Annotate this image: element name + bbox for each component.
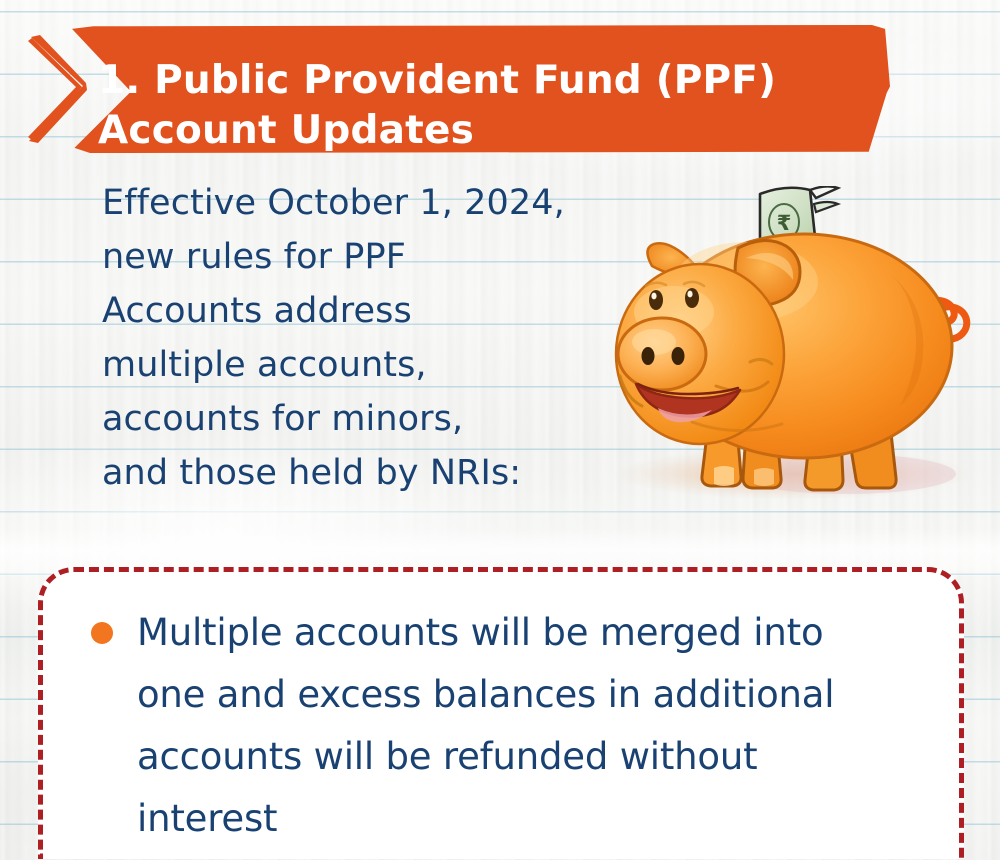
header-ribbon: 1. Public Provident Fund (PPF) Account U…	[0, 25, 890, 153]
header-title: 1. Public Provident Fund (PPF) Account U…	[98, 56, 818, 156]
piggy-eye-left	[649, 290, 663, 310]
header-title-line-1: 1. Public Provident Fund (PPF)	[98, 56, 818, 106]
intro-line-4: multiple accounts,	[102, 338, 662, 392]
bullet-dot-icon	[91, 622, 113, 644]
piggy-nostril-left	[642, 347, 655, 365]
intro-line-5: accounts for minors,	[102, 392, 662, 446]
bullet-line-2: one and excess balances in additional	[137, 664, 834, 726]
piggy-nostril-right	[672, 347, 685, 365]
intro-line-6: and those held by NRIs:	[102, 446, 662, 500]
intro-line-2: new rules for PPF	[102, 230, 662, 284]
piggy-eye-right	[685, 288, 699, 308]
bullet-line-3: accounts will be refunded without	[137, 726, 834, 788]
bullet-list-item: Multiple accounts will be merged into on…	[91, 602, 919, 850]
header-title-line-2: Account Updates	[98, 106, 818, 156]
piggy-bank-illustration: ₹	[596, 186, 986, 516]
bullet-card: Multiple accounts will be merged into on…	[38, 567, 964, 859]
intro-line-3: Accounts address	[102, 284, 662, 338]
intro-paragraph: Effective October 1, 2024, new rules for…	[102, 176, 662, 500]
bullet-line-1: Multiple accounts will be merged into	[137, 602, 834, 664]
bullet-item-text: Multiple accounts will be merged into on…	[137, 602, 834, 850]
intro-line-1: Effective October 1, 2024,	[102, 176, 662, 230]
svg-text:₹: ₹	[777, 211, 792, 235]
bullet-line-4: interest	[137, 788, 834, 850]
infographic-poster: 1. Public Provident Fund (PPF) Account U…	[0, 0, 1000, 860]
chevron-right-icon	[26, 33, 88, 145]
